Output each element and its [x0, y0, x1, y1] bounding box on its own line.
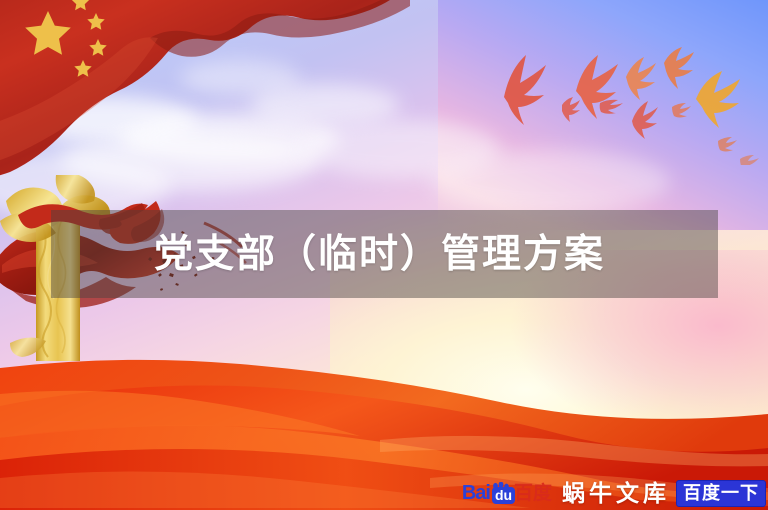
baidu-search-button[interactable]: 百度一下 — [676, 480, 766, 507]
baidu-logo-bai: Bai — [462, 483, 490, 503]
site-name-label: 蜗牛文库 — [562, 482, 670, 505]
baidu-logo[interactable]: Bai du 百度 — [462, 482, 552, 504]
watermark-bar: Bai du 百度 蜗牛文库 百度一下 — [462, 476, 768, 510]
poster-canvas: 党支部（临时）管理方案 Bai du 百度 蜗牛文库 百度一下 — [0, 0, 768, 510]
baidu-logo-du: du — [492, 487, 515, 504]
paw-print-icon: du — [491, 482, 511, 504]
flying-birds-icon — [480, 45, 768, 165]
china-flag-icon — [0, 0, 410, 180]
title-banner: 党支部（临时）管理方案 — [51, 210, 718, 298]
page-title: 党支部（临时）管理方案 — [154, 235, 605, 274]
baidu-logo-cn: 百度 — [514, 484, 552, 503]
